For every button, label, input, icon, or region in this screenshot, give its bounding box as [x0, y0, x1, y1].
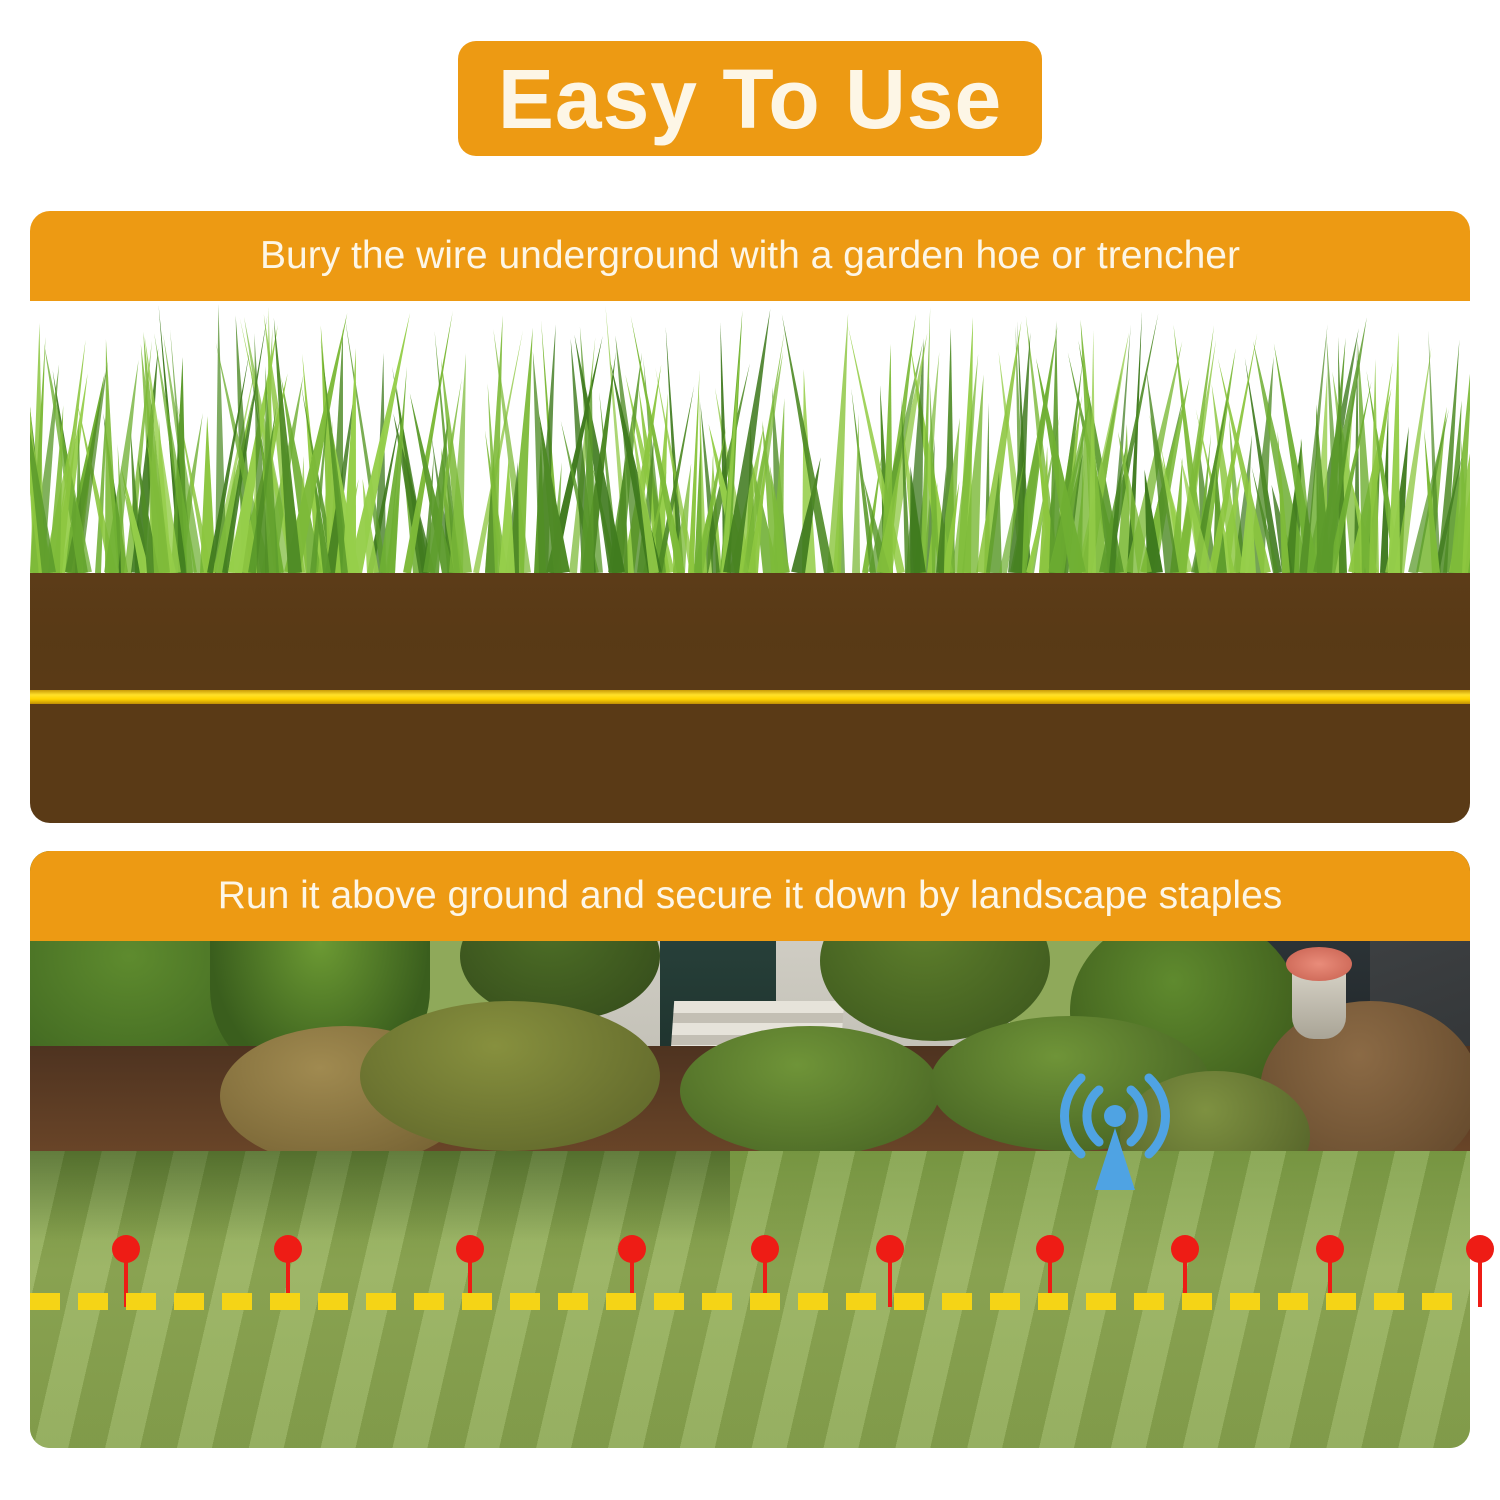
- planter-flowers: [1286, 947, 1352, 981]
- lawn-shadow: [30, 1151, 730, 1241]
- page-title-banner: Easy To Use: [458, 41, 1042, 156]
- grass-blade: [1369, 359, 1380, 573]
- caption-bar-bury-wire: Bury the wire underground with a garden …: [30, 211, 1470, 301]
- grass-blade: [1088, 330, 1097, 573]
- grass-blade: [499, 458, 517, 573]
- buried-wire-line: [30, 690, 1470, 704]
- panel-above-ground: Run it above ground and secure it down b…: [30, 851, 1470, 1448]
- staple-head: [751, 1235, 779, 1263]
- caption-text-above-ground: Run it above ground and secure it down b…: [218, 874, 1283, 918]
- above-ground-wire: [30, 1293, 1470, 1310]
- wifi-transmitter-icon: [1055, 1062, 1175, 1202]
- staple-head: [1036, 1235, 1064, 1263]
- soil-layer-upper: [30, 573, 1470, 690]
- page-title: Easy To Use: [498, 57, 1002, 141]
- grass-illustration: [30, 301, 1470, 573]
- shrub: [680, 1026, 940, 1156]
- staple-head: [274, 1235, 302, 1263]
- staple-head: [1171, 1235, 1199, 1263]
- staple-head: [618, 1235, 646, 1263]
- landscape-staple: [1466, 1235, 1494, 1307]
- panel-bury-wire: Bury the wire underground with a garden …: [30, 211, 1470, 823]
- staple-head: [112, 1235, 140, 1263]
- caption-text-bury-wire: Bury the wire underground with a garden …: [260, 234, 1240, 278]
- staple-head: [456, 1235, 484, 1263]
- soil-layer-lower: [30, 704, 1470, 823]
- caption-bar-above-ground: Run it above ground and secure it down b…: [30, 851, 1470, 941]
- staple-head: [876, 1235, 904, 1263]
- staple-head: [1466, 1235, 1494, 1263]
- shrub: [360, 1001, 660, 1151]
- staple-head: [1316, 1235, 1344, 1263]
